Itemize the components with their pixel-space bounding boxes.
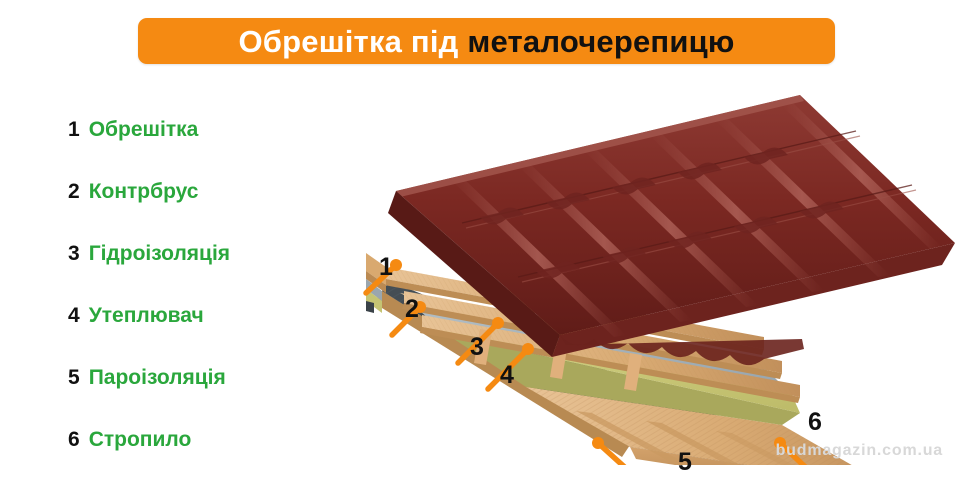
callout-number-6: 6: [808, 410, 822, 435]
legend-item-2: 2 Контрбрус: [68, 180, 338, 242]
legend-item-4: 4 Утеплювач: [68, 304, 338, 366]
legend-label: Гідроізоляція: [89, 242, 230, 266]
callout-dot-4: [522, 343, 534, 355]
legend-label: Обрешітка: [89, 118, 199, 142]
callout-dot-5: [592, 437, 604, 449]
legend-number: 1: [68, 118, 80, 142]
callout-number-5: 5: [678, 450, 692, 475]
title-white-part: Обрешітка під: [238, 24, 458, 59]
legend-label: Утеплювач: [89, 304, 204, 328]
legend-number: 5: [68, 366, 80, 390]
infographic-canvas: Обрешітка під металочерепицю 1 Обрешітка…: [0, 0, 955, 490]
roof-cutaway-illustration: 1 2 3 4 5 6: [330, 95, 955, 465]
legend-number: 6: [68, 428, 80, 452]
title-black-part: металочерепицю: [467, 24, 734, 59]
legend-number: 2: [68, 180, 80, 204]
title-banner: Обрешітка під металочерепицю: [138, 18, 835, 64]
callout-dot-3: [492, 317, 504, 329]
legend-label: Стропило: [89, 428, 192, 452]
legend-item-1: 1 Обрешітка: [68, 118, 338, 180]
legend-number: 4: [68, 304, 80, 328]
legend-number: 3: [68, 242, 80, 266]
callout-number-4: 4: [500, 363, 514, 388]
legend-item-3: 3 Гідроізоляція: [68, 242, 338, 304]
callout-number-2: 2: [405, 297, 419, 322]
watermark: budmagazin.com.ua: [776, 442, 943, 460]
callout-number-1: 1: [379, 255, 393, 280]
legend-label: Пароізоляція: [89, 366, 226, 390]
legend-label: Контрбрус: [89, 180, 199, 204]
legend-item-5: 5 Пароізоляція: [68, 366, 338, 428]
legend-list: 1 Обрешітка 2 Контрбрус 3 Гідроізоляція …: [68, 118, 338, 490]
page-title: Обрешітка під металочерепицю: [238, 26, 734, 57]
legend-item-6: 6 Стропило: [68, 428, 338, 490]
callout-number-3: 3: [470, 335, 484, 360]
